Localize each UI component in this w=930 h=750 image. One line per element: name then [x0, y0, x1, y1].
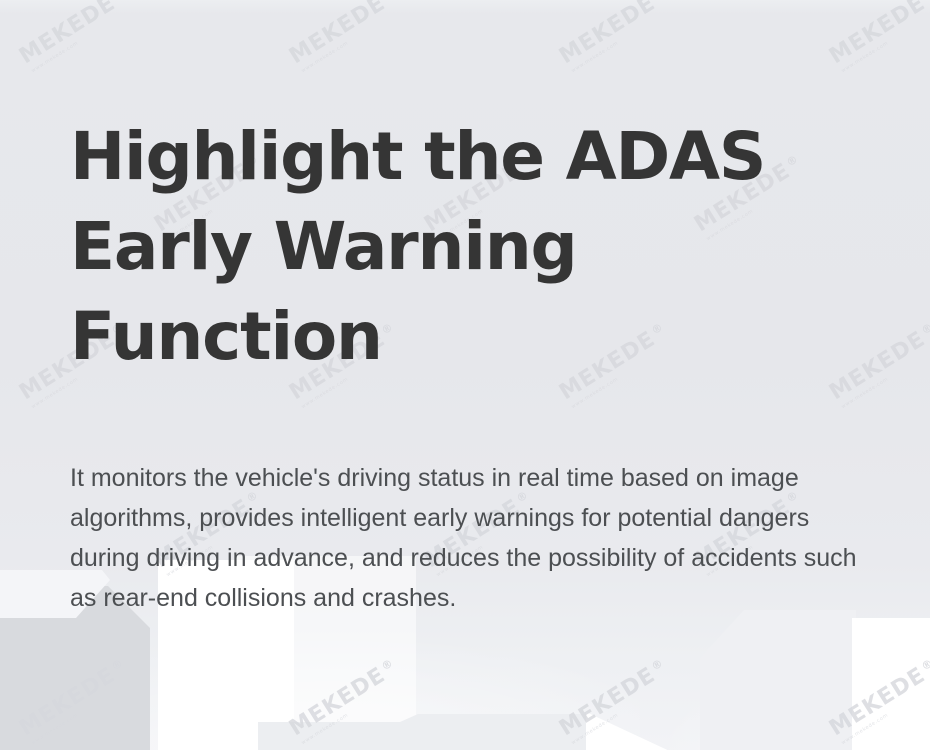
banner-content: Highlight the ADAS Early Warning Functio…: [70, 0, 890, 750]
promo-banner: MEKEDE®www.mekede.comMEKEDE®www.mekede.c…: [0, 0, 930, 750]
headline-line-1: Highlight the ADAS: [70, 112, 870, 202]
headline-line-3: Function: [70, 292, 870, 382]
headline-line-2: Early Warning: [70, 202, 870, 292]
description-paragraph: It monitors the vehicle's driving status…: [70, 458, 885, 618]
page-title: Highlight the ADAS Early Warning Functio…: [70, 112, 870, 382]
